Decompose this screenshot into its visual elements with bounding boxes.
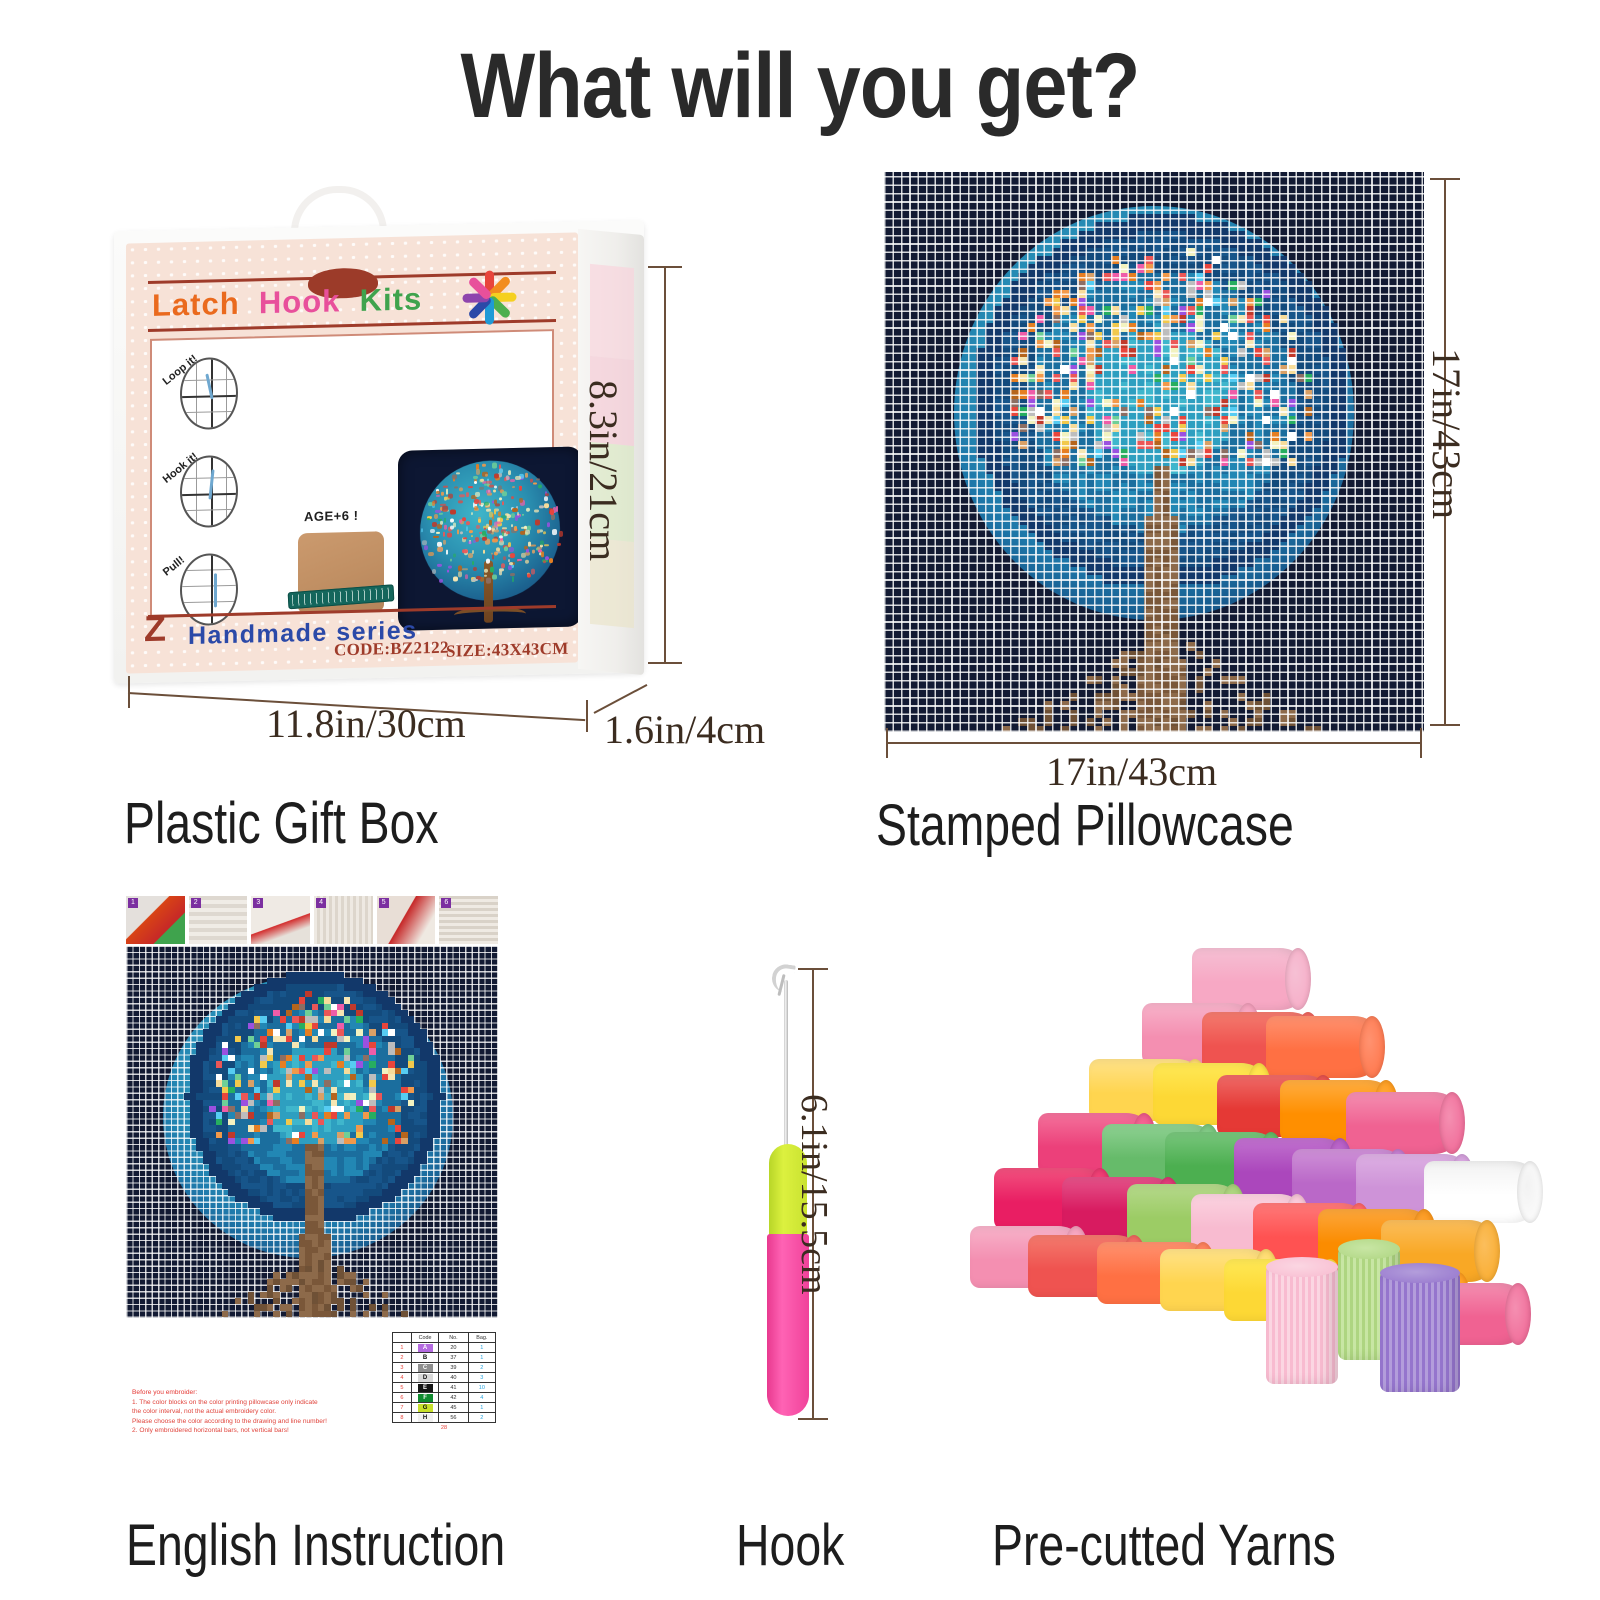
canvas-pixel [1002,315,1010,323]
canvas-pixel [1270,491,1278,499]
instruction-step-thumbnail: 5 [377,896,436,944]
canvas-pixel [1119,500,1127,508]
pillow-leaf [509,547,513,552]
canvas-pixel [1178,399,1186,407]
canvas-pixel [1270,281,1278,289]
canvas-pixel [1153,374,1161,382]
canvas-pixel [1069,315,1077,323]
canvas-pixel [1128,256,1136,264]
canvas-pixel [1069,340,1077,348]
canvas-pixel [1144,374,1152,382]
canvas-pixel [1220,332,1228,340]
canvas-pixel [1136,575,1144,583]
canvas-pixel [1153,323,1161,331]
canvas-pixel [1128,693,1136,701]
canvas-pixel [1018,483,1026,491]
canvas-pixel [1052,483,1060,491]
canvas-pixel [1144,617,1152,625]
canvas-pixel [1262,466,1270,474]
canvas-pixel [1144,449,1152,457]
canvas-pixel [1296,416,1304,424]
canvas-pixel [1119,348,1127,356]
canvas-pixel [1245,273,1253,281]
box-size-text: SIZE:43X43CM [446,639,569,662]
canvas-pixel [1254,466,1262,474]
canvas-pixel [1153,609,1161,617]
canvas-pixel [1220,491,1228,499]
canvas-pixel [1270,542,1278,550]
canvas-pixel [1044,710,1052,718]
canvas-pixel [993,315,1001,323]
canvas-pixel [1128,710,1136,718]
canvas-pixel [1027,516,1035,524]
canvas-pixel [1060,474,1068,482]
canvas-pixel [1161,542,1169,550]
canvas-pixel [1144,626,1152,634]
canvas-pixel [1086,231,1094,239]
canvas-pixel [1102,466,1110,474]
canvas-pixel [1228,365,1236,373]
canvas-pixel [1212,508,1220,516]
canvas-pixel [1212,264,1220,272]
table-row: 7G451 [393,1403,496,1413]
canvas-pixel [1060,500,1068,508]
canvas-pixel [1228,441,1236,449]
canvas-pixel [1044,332,1052,340]
canvas-pixel [1203,306,1211,314]
canvas-pixel [1119,357,1127,365]
canvas-pixel [1220,525,1228,533]
canvas-pixel [1153,701,1161,709]
canvas-pixel [1102,516,1110,524]
canvas-pixel [1144,584,1152,592]
canvas-pixel [1296,516,1304,524]
canvas-pixel [1296,491,1304,499]
canvas-pixel [1220,533,1228,541]
canvas-pixel [1069,357,1077,365]
canvas-pixel [1136,323,1144,331]
canvas-pixel [1212,516,1220,524]
pillow-leaf [476,469,480,475]
canvas-pixel [1086,491,1094,499]
canvas-pixel [1212,357,1220,365]
canvas-pixel [993,407,1001,415]
canvas-pixel [1245,264,1253,272]
canvas-pixel [1102,542,1110,550]
canvas-pixel [1094,449,1102,457]
canvas-pixel [382,1292,388,1298]
pillow-leaf [473,567,477,571]
canvas-pixel [1195,466,1203,474]
canvas-pixel [1094,348,1102,356]
canvas-pixel [1296,458,1304,466]
canvas-pixel [1086,281,1094,289]
canvas-pixel [1002,348,1010,356]
canvas-pixel [1186,281,1194,289]
canvas-pixel [1119,684,1127,692]
case-width-dim-tick [1420,728,1422,758]
canvas-pixel [1094,558,1102,566]
canvas-pixel [1052,458,1060,466]
canvas-pixel [1102,550,1110,558]
canvas-pixel [1035,365,1043,373]
cell-code: A [411,1343,438,1353]
canvas-pixel [1035,500,1043,508]
canvas-pixel [1136,348,1144,356]
canvas-pixel [1262,458,1270,466]
canvas-pixel [1195,458,1203,466]
canvas-pixel [1069,256,1077,264]
canvas-pixel [985,441,993,449]
canvas-pixel [1245,390,1253,398]
canvas-pixel [1144,231,1152,239]
canvas-pixel [1262,533,1270,541]
pillow-leaf [541,551,543,557]
canvas-pixel [1144,634,1152,642]
yarn-bundle-top [1266,1257,1338,1277]
pillow-leaf [436,495,440,497]
canvas-pixel [1052,264,1060,272]
canvas-pixel [976,357,984,365]
canvas-pixel [1195,684,1203,692]
canvas-pixel [1153,248,1161,256]
canvas-pixel [1111,323,1119,331]
canvas-pixel [1203,348,1211,356]
canvas-pixel [1161,315,1169,323]
yarn-bundle [1346,1092,1464,1154]
canvas-pixel [1212,231,1220,239]
canvas-pixel [1136,701,1144,709]
canvas-pixel [1270,348,1278,356]
canvas-pixel [382,1311,388,1317]
canvas-pixel [1296,290,1304,298]
canvas-pixel [1018,348,1026,356]
canvas-pixel [1136,466,1144,474]
canvas-pixel [1186,508,1194,516]
canvas-pixel [1136,726,1144,732]
canvas-pixel [1161,357,1169,365]
canvas-pixel [1010,508,1018,516]
canvas-pixel [1119,550,1127,558]
pillow-leaf [501,515,507,518]
canvas-pixel [1102,441,1110,449]
canvas-pixel [1052,542,1060,550]
canvas-pixel [1195,483,1203,491]
canvas-pixel [1102,432,1110,440]
canvas-pixel [1153,634,1161,642]
canvas-pixel [222,1311,228,1317]
canvas-pixel [1254,701,1262,709]
canvas-pixel [1136,525,1144,533]
canvas-pixel [1069,306,1077,314]
canvas-pixel [1161,508,1169,516]
canvas-pixel [1195,550,1203,558]
canvas-pixel [1111,701,1119,709]
canvas-pixel [1161,248,1169,256]
canvas-pixel [1111,273,1119,281]
canvas-pixel [1102,222,1110,230]
canvas-pixel [1111,374,1119,382]
canvas-pixel [1119,533,1127,541]
canvas-pixel [1153,710,1161,718]
canvas-pixel [1094,542,1102,550]
canvas-pixel [1119,432,1127,440]
canvas-pixel [1069,374,1077,382]
canvas-pixel [1254,323,1262,331]
canvas-pixel [1245,416,1253,424]
canvas-pixel [1144,592,1152,600]
canvas-pixel [1077,491,1085,499]
canvas-pixel [1060,466,1068,474]
canvas-pixel [1195,239,1203,247]
canvas-pixel [1010,290,1018,298]
box-side-yarn [590,264,634,360]
canvas-pixel [1287,374,1295,382]
canvas-pixel [1220,348,1228,356]
canvas-pixel [1212,558,1220,566]
canvas-pixel [1060,281,1068,289]
canvas-pixel [1287,474,1295,482]
canvas-pixel [1077,458,1085,466]
pillow-leaf [442,506,448,511]
canvas-pixel [1136,651,1144,659]
canvas-pixel [1144,248,1152,256]
pillow-leaf [552,529,558,534]
canvas-pixel [1010,365,1018,373]
canvas-pixel [1069,542,1077,550]
canvas-pixel [1262,390,1270,398]
canvas-pixel [1321,424,1329,432]
canvas-pixel [1228,248,1236,256]
canvas-pixel [1296,315,1304,323]
canvas-pixel [1321,382,1329,390]
canvas-pixel [1287,290,1295,298]
pillow-leaf [481,505,483,507]
canvas-pixel [1170,290,1178,298]
canvas-pixel [1254,424,1262,432]
canvas-pixel [1304,290,1312,298]
canvas-pixel [1119,525,1127,533]
canvas-pixel [1153,264,1161,272]
canvas-pixel [1119,458,1127,466]
caption-plastic-gift-box: Plastic Gift Box [124,790,439,857]
canvas-pixel [1128,281,1136,289]
canvas-pixel [1002,374,1010,382]
canvas-pixel [1027,449,1035,457]
canvas-pixel [1102,399,1110,407]
cell-code: F [411,1393,438,1403]
canvas-pixel [1161,558,1169,566]
canvas-pixel [1312,340,1320,348]
canvas-pixel [1228,306,1236,314]
canvas-pixel [1245,281,1253,289]
canvas-pixel [1254,315,1262,323]
canvas-pixel [1052,416,1060,424]
canvas-pixel [1220,407,1228,415]
canvas-pixel [1287,264,1295,272]
canvas-pixel [401,1311,407,1317]
canvas-pixel [1220,281,1228,289]
canvas-pixel [1329,390,1337,398]
canvas-pixel [1228,558,1236,566]
canvas-pixel [1245,382,1253,390]
canvas-pixel [1052,273,1060,281]
canvas-pixel [1220,264,1228,272]
canvas-pixel [1128,382,1136,390]
pillow-leaf [489,520,492,526]
canvas-pixel [1312,365,1320,373]
canvas-pixel [1052,374,1060,382]
canvas-pixel [1170,214,1178,222]
canvas-pixel [1304,281,1312,289]
canvas-pixel [1035,399,1043,407]
canvas-pixel [1195,264,1203,272]
canvas-pixel [1170,500,1178,508]
canvas-pixel [1094,726,1102,732]
canvas-pixel [440,1093,446,1099]
canvas-pixel [1119,248,1127,256]
canvas-pixel [1262,407,1270,415]
canvas-pixel [1203,315,1211,323]
table-row: 2B371 [393,1353,496,1363]
canvas-pixel [1203,407,1211,415]
pillow-leaf [512,486,515,488]
canvas-pixel [433,1132,439,1138]
canvas-pixel [1312,298,1320,306]
canvas-pixel [1195,340,1203,348]
canvas-pixel [1060,248,1068,256]
canvas-pixel [1119,474,1127,482]
canvas-pixel [1195,441,1203,449]
canvas-pixel [1203,449,1211,457]
canvas-pixel [1069,449,1077,457]
canvas-pixel [1254,290,1262,298]
canvas-pixel [1102,256,1110,264]
canvas-pixel [1254,306,1262,314]
canvas-pixel [1086,248,1094,256]
canvas-pixel [1228,474,1236,482]
canvas-pixel [1128,239,1136,247]
cell-code: D [411,1373,438,1383]
canvas-pixel [1245,500,1253,508]
canvas-pixel [1195,500,1203,508]
canvas-pixel [1262,374,1270,382]
canvas-pixel [1237,491,1245,499]
canvas-pixel [1228,281,1236,289]
canvas-pixel [1052,298,1060,306]
box-height-dim-tick [648,662,682,664]
canvas-pixel [1094,416,1102,424]
canvas-pixel [1287,516,1295,524]
canvas-pixel [1052,340,1060,348]
canvas-pixel [1144,315,1152,323]
canvas-pixel [1128,542,1136,550]
canvas-pixel [1245,533,1253,541]
instruction-notice: Before you embroider: 1. The color block… [132,1388,382,1436]
canvas-pixel [1170,533,1178,541]
canvas-pixel [1052,382,1060,390]
pillow-leaf [494,530,499,533]
canvas-pixel [1111,567,1119,575]
canvas-pixel [1060,306,1068,314]
canvas-pixel [1027,718,1035,726]
canvas-pixel [1161,239,1169,247]
canvas-pixel [1186,248,1194,256]
canvas-pixel [1077,306,1085,314]
canvas-pixel [1153,340,1161,348]
canvas-pixel [1237,239,1245,247]
canvas-pixel [1119,558,1127,566]
canvas-pixel [1178,684,1186,692]
canvas-pixel [1296,424,1304,432]
canvas-pixel [993,449,1001,457]
pillow-leaf [433,536,439,538]
canvas-pixel [1178,659,1186,667]
canvas-pixel [1161,726,1169,732]
canvas-pixel [1086,483,1094,491]
canvas-pixel [1060,542,1068,550]
canvas-pixel [1220,483,1228,491]
pillow-leaf [462,517,466,521]
canvas-pixel [1161,659,1169,667]
canvas-pixel [1212,256,1220,264]
canvas-pixel [1245,315,1253,323]
canvas-pixel [1245,718,1253,726]
canvas-pixel [1170,231,1178,239]
canvas-pixel [1262,340,1270,348]
canvas-pixel [1186,575,1194,583]
canvas-pixel [1186,315,1194,323]
canvas-pixel [1144,432,1152,440]
canvas-pixel [1144,214,1152,222]
canvas-pixel [1111,390,1119,398]
canvas-pixel [1186,642,1194,650]
canvas-pixel [1237,483,1245,491]
canvas-pixel [1212,407,1220,415]
canvas-pixel [1228,323,1236,331]
canvas-pixel [1245,701,1253,709]
canvas-pixel [1153,432,1161,440]
canvas-pixel [976,407,984,415]
case-width-dim-tick [886,728,888,758]
canvas-pixel [1027,390,1035,398]
canvas-pixel [1203,332,1211,340]
step-number-badge: 2 [191,898,201,908]
canvas-pixel [1170,424,1178,432]
canvas-pixel [1077,348,1085,356]
pillow-leaf [494,485,497,489]
canvas-pixel [1338,382,1346,390]
canvas-pixel [1119,374,1127,382]
canvas-pixel [1287,357,1295,365]
canvas-pixel [1018,491,1026,499]
canvas-pixel [1018,323,1026,331]
canvas-pixel [1212,432,1220,440]
canvas-pixel [1170,273,1178,281]
canvas-pixel [1069,550,1077,558]
canvas-pixel [1212,466,1220,474]
canvas-pixel [1069,273,1077,281]
canvas-pixel [1170,659,1178,667]
canvas-pixel [1186,550,1194,558]
canvas-pixel [1279,449,1287,457]
canvas-pixel [1027,483,1035,491]
canvas-pixel [1170,491,1178,499]
canvas-pixel [1128,231,1136,239]
canvas-pixel [1212,315,1220,323]
canvas-pixel [1052,432,1060,440]
canvas-pixel [1178,222,1186,230]
